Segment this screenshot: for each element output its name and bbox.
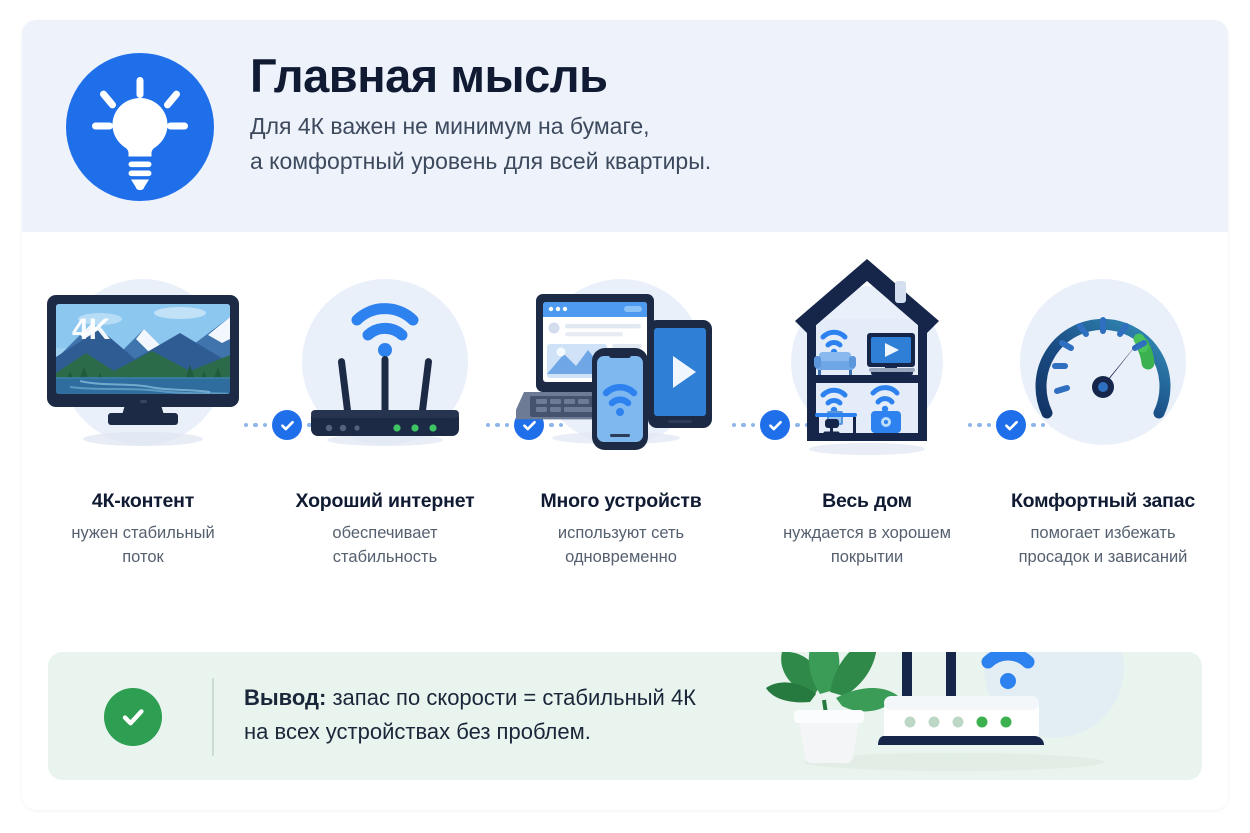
page-title: Главная мысль	[250, 50, 1150, 103]
dot	[987, 423, 992, 428]
conclusion-line-1-rest: запас по скорости = стабильный 4К	[326, 685, 696, 710]
step-description-line-1: нужен стабильный	[40, 522, 246, 545]
step-description-line-2: поток	[40, 546, 246, 569]
speed-gauge-icon	[998, 252, 1208, 472]
step-description-line-2: стабильность	[282, 546, 488, 569]
dot	[495, 423, 500, 428]
step-description-line-2: просадок и зависаний	[1000, 546, 1206, 569]
header-text-block: Главная мысль Для 4К важен не минимум на…	[250, 50, 1150, 179]
dotted-line-left	[968, 423, 992, 428]
step-whole-house: Весь дом нуждается в хорошем покрытии	[762, 252, 972, 569]
multi-devices-icon	[516, 252, 726, 472]
step-title: Хороший интернет	[280, 490, 490, 513]
dot	[732, 423, 737, 428]
header-subtitle: Для 4К важен не минимум на бумаге, а ком…	[250, 109, 1150, 179]
lightbulb-icon	[66, 53, 214, 201]
step-description: помогает избежать просадок и зависаний	[998, 522, 1208, 569]
step-good-internet: Хороший интернет обеспечивает стабильнос…	[280, 252, 490, 569]
dot	[263, 423, 268, 428]
dot	[977, 423, 982, 428]
step-description-line-2: покрытии	[764, 546, 970, 569]
step-description: используют сеть одновременно	[516, 522, 726, 569]
infographic-canvas: Главная мысль Для 4К важен не минимум на…	[0, 0, 1250, 833]
conclusion-label: Вывод:	[244, 685, 326, 710]
step-many-devices: Много устройств используют сеть одноврем…	[516, 252, 726, 569]
dotted-line-left	[486, 423, 510, 428]
header-subtitle-line-1: Для 4К важен не минимум на бумаге,	[250, 109, 1150, 144]
dot	[253, 423, 258, 428]
infographic-card: Главная мысль Для 4К важен не минимум на…	[22, 20, 1228, 810]
dotted-line-left	[244, 423, 268, 428]
dotted-line-left	[732, 423, 756, 428]
check-circle-icon	[104, 688, 162, 746]
tv-screen-label: 4K	[72, 313, 111, 346]
wifi-router-icon	[280, 252, 490, 472]
step-title: Весь дом	[762, 490, 972, 513]
header-band: Главная мысль Для 4К важен не минимум на…	[22, 20, 1228, 232]
dot	[751, 423, 756, 428]
step-title: Много устройств	[516, 490, 726, 513]
step-title: 4К-контент	[38, 490, 248, 513]
header-subtitle-line-2: а комфортный уровень для всей квартиры.	[250, 144, 1150, 179]
step-description-line-1: помогает избежать	[1000, 522, 1206, 545]
conclusion-banner: Вывод: запас по скорости = стабильный 4К…	[48, 652, 1202, 780]
plant-and-router-icon	[758, 652, 1188, 780]
step-description-line-1: используют сеть	[518, 522, 724, 545]
tv-4k-icon: 4K	[38, 252, 248, 472]
step-comfort-margin: Комфортный запас помогает избежать проса…	[998, 252, 1208, 569]
dot	[968, 423, 973, 428]
step-description: нуждается в хорошем покрытии	[762, 522, 972, 569]
dot	[505, 423, 510, 428]
dot	[486, 423, 491, 428]
vertical-divider	[212, 678, 214, 756]
dot	[741, 423, 746, 428]
conclusion-line-1: Вывод: запас по скорости = стабильный 4К	[244, 681, 844, 715]
step-description-line-1: обеспечивает	[282, 522, 488, 545]
step-description-line-1: нуждается в хорошем	[764, 522, 970, 545]
conclusion-line-2: на всех устройствах без проблем.	[244, 715, 844, 749]
conclusion-text: Вывод: запас по скорости = стабильный 4К…	[244, 681, 844, 749]
step-4k-content: 4K 4К-контент нужен стабильный поток	[38, 252, 248, 569]
step-description: нужен стабильный поток	[38, 522, 248, 569]
steps-row: 4K 4К-контент нужен стабильный поток	[22, 252, 1228, 622]
house-coverage-icon	[762, 252, 972, 472]
step-description: обеспечивает стабильность	[280, 522, 490, 569]
step-title: Комфортный запас	[998, 490, 1208, 513]
step-description-line-2: одновременно	[518, 546, 724, 569]
